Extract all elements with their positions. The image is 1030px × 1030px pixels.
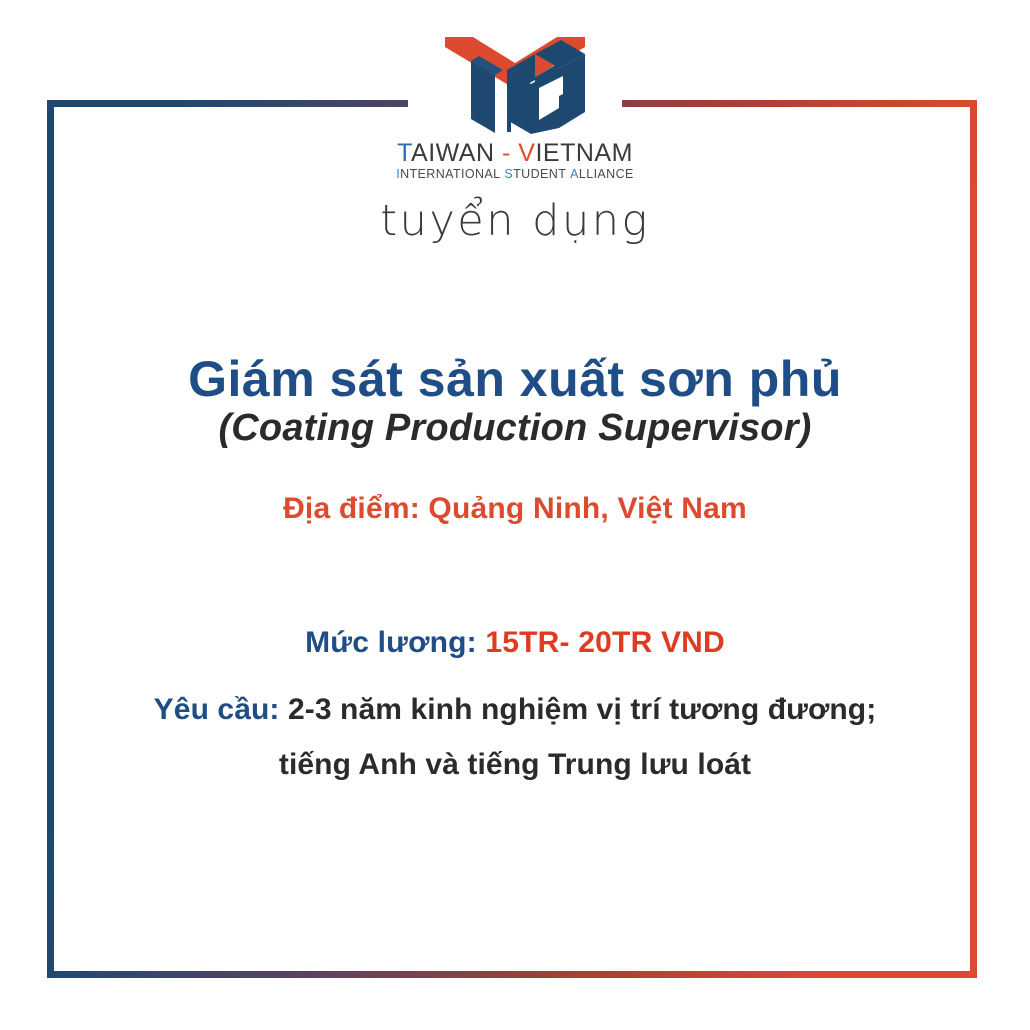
job-title-vi: Giám sát sản xuất sơn phủ bbox=[60, 352, 970, 406]
job-salary: Mức lương: 15TR- 20TR VND bbox=[60, 626, 970, 660]
job-location: Địa điểm: Quảng Ninh, Việt Nam bbox=[60, 492, 970, 526]
logo-subtitle-student-initial: S bbox=[504, 167, 513, 181]
job-requirement-value: 2-3 năm kinh nghiệm vị trí tương đương; bbox=[288, 693, 876, 726]
job-details: Giám sát sản xuất sơn phủ (Coating Produ… bbox=[60, 352, 970, 793]
job-requirement-line2: tiếng Anh và tiếng Trung lưu loát bbox=[279, 748, 751, 781]
logo-subtitle-international-rest: NTERNATIONAL bbox=[400, 167, 500, 181]
job-salary-value: 15TR- 20TR VND bbox=[485, 626, 725, 659]
logo-wordmark-taiwan-initial: T bbox=[397, 139, 411, 167]
job-title-en: (Coating Production Supervisor) bbox=[60, 408, 970, 450]
logo-wordmark-separator: - bbox=[495, 139, 519, 167]
job-requirement: Yêu cầu: 2-3 năm kinh nghiệm vị trí tươn… bbox=[60, 682, 970, 793]
job-salary-label: Mức lương: bbox=[305, 626, 477, 659]
logo-subtitle-student-rest: TUDENT bbox=[513, 167, 566, 181]
taiwan-vietnam-isa-logo-icon bbox=[439, 32, 591, 138]
logo-wordmark: TAIWAN - VIETNAM bbox=[397, 140, 633, 166]
logo-wordmark-vietnam-initial: V bbox=[518, 139, 535, 167]
tagline: tuyển dụng bbox=[0, 196, 1030, 246]
logo-wordmark-taiwan-rest: AIWAN bbox=[411, 139, 495, 167]
recruitment-poster: TAIWAN - VIETNAM INTERNATIONAL STUDENT A… bbox=[0, 0, 1030, 1030]
logo-wordmark-vietnam-rest: IETNAM bbox=[535, 139, 632, 167]
logo-subtitle-alliance-initial: A bbox=[570, 167, 579, 181]
logo-subtitle-alliance-rest: LLIANCE bbox=[579, 167, 634, 181]
logo-block: TAIWAN - VIETNAM INTERNATIONAL STUDENT A… bbox=[0, 32, 1030, 181]
logo-subtitle: INTERNATIONAL STUDENT ALLIANCE bbox=[396, 167, 634, 181]
job-requirement-label: Yêu cầu: bbox=[154, 693, 280, 726]
